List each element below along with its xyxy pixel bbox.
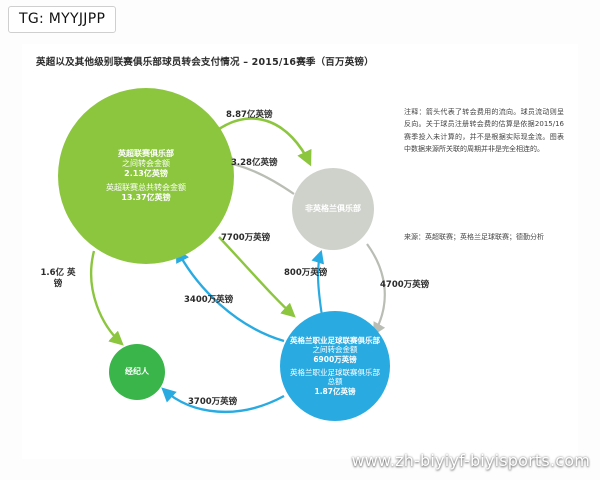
node-efl-total-value: 1.87亿英镑	[314, 387, 355, 397]
screenshot-root: TG: MYYJJPP 英超以及其他级别联赛俱乐部球员转会支付情况 – 2015…	[0, 0, 600, 480]
flow-label-premier-to-efl: 7700万英镑	[221, 231, 270, 243]
chart-card: 英超以及其他级别联赛俱乐部球员转会支付情况 – 2015/16赛季（百万英镑）	[22, 44, 578, 459]
node-premier-league[interactable]: 英超联赛俱乐部 之间转会金额 2.13亿英镑 英超联赛总共转会金额 13.37亿…	[58, 88, 234, 264]
node-premier-total-value: 13.37亿英镑	[121, 193, 170, 203]
tg-tag: TG: MYYJJPP	[8, 6, 116, 33]
node-efl-total-label: 英格兰职业足球联赛俱乐部总额	[290, 368, 380, 387]
node-efl-name: 英格兰职业足球联赛俱乐部	[290, 336, 380, 346]
flow-label-noneng-to-premier: 3.28亿英镑	[231, 156, 277, 168]
watermark: www.zh-biyiyf-biyisports.com	[351, 451, 590, 470]
flow-label-efl-to-premier: 3400万英镑	[184, 293, 233, 305]
flow-label-premier-to-agents: 1.6亿 英镑	[38, 268, 78, 289]
flow-label-noneng-to-efl: 4700万英镑	[380, 278, 429, 290]
node-premier-internal-label: 之间转会金额	[122, 159, 170, 169]
node-efl-clubs[interactable]: 英格兰职业足球联赛俱乐部 之间转会金额 6900万英镑 英格兰职业足球联赛俱乐部…	[280, 311, 390, 421]
node-non-english-clubs[interactable]: 非英格兰俱乐部	[292, 168, 374, 250]
flow-label-efl-to-noneng: 800万英镑	[284, 266, 327, 278]
node-premier-total-label: 英超联赛总共转会金额	[106, 183, 186, 193]
chart-note: 注释：箭头代表了转会费用的流向。球员流动则呈反向。关于球员注册转会费的估算是依据…	[404, 106, 564, 155]
node-efl-internal-label: 之间转会金额	[313, 345, 358, 355]
chart-source: 来源：英超联赛；英格兰足球联赛；德勤分析	[404, 232, 574, 244]
node-non-english-name: 非英格兰俱乐部	[305, 204, 361, 214]
flow-label-premier-to-noneng: 8.87亿英镑	[226, 108, 272, 120]
node-agents-name: 经纪人	[125, 367, 149, 377]
node-agents[interactable]: 经纪人	[109, 344, 165, 400]
node-efl-internal-value: 6900万英镑	[313, 355, 356, 365]
node-premier-name: 英超联赛俱乐部	[118, 149, 174, 159]
flow-label-efl-to-agents: 3700万英镑	[188, 395, 237, 407]
node-premier-internal-value: 2.13亿英镑	[124, 169, 168, 179]
